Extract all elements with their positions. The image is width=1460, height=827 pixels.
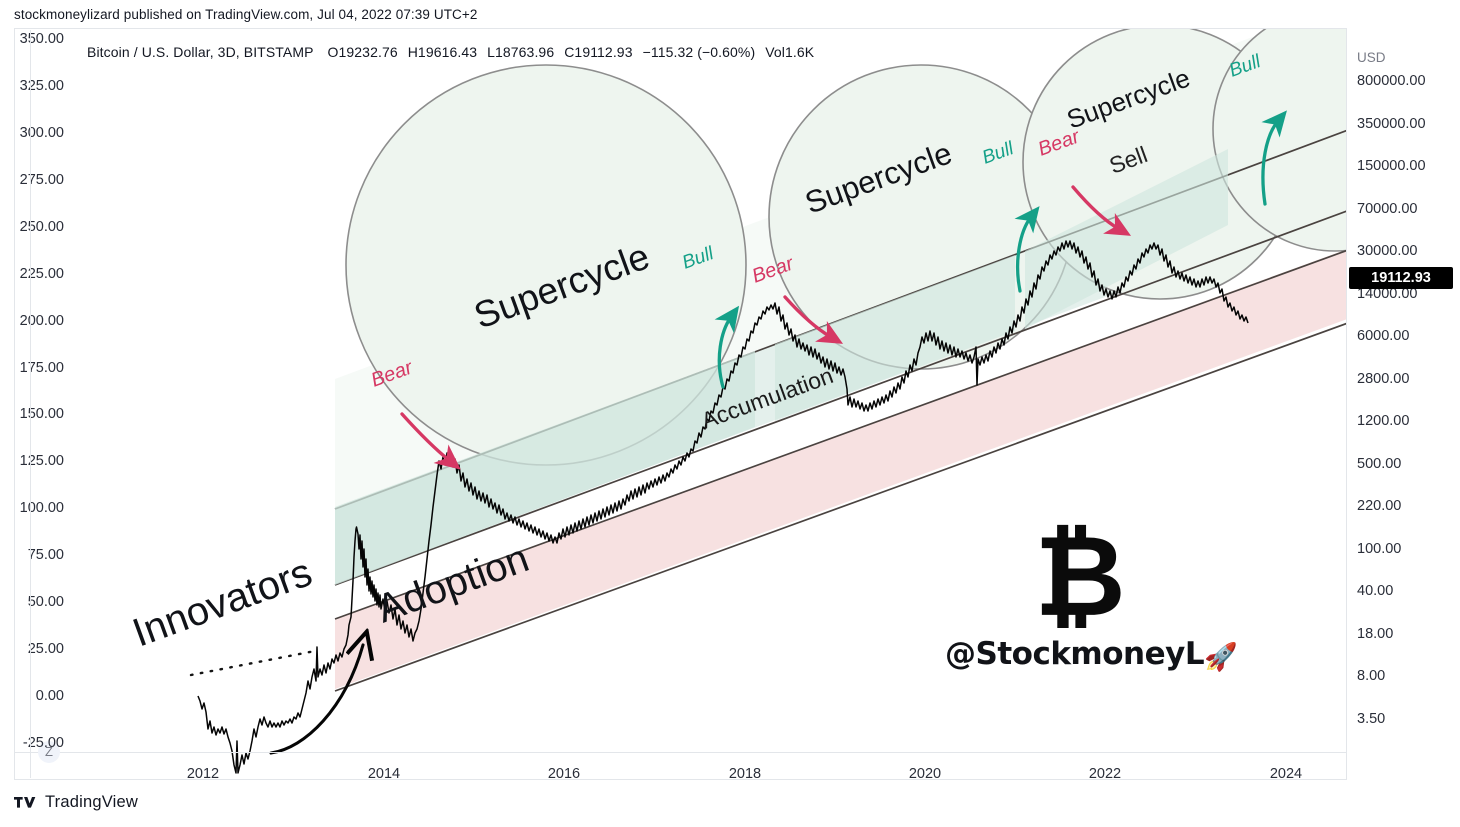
left-axis-tick: 100.00 — [20, 500, 64, 516]
ticker-change: −115.32 (−0.60%) — [643, 44, 756, 60]
right-axis-tick: 500.00 — [1357, 456, 1401, 472]
left-axis-tick: 200.00 — [20, 313, 64, 329]
time-axis-tick: 2022 — [1089, 766, 1121, 782]
left-axis-tick: 325.00 — [20, 78, 64, 94]
left-axis-tick: 225.00 — [20, 266, 64, 282]
chart-plot-area[interactable]: Supercycle Supercycle Supercycle Bear Be… — [15, 29, 1447, 781]
publisher-byline: stockmoneylizard published on TradingVie… — [14, 7, 478, 22]
left-axis-tick: 125.00 — [20, 453, 64, 469]
left-axis-tick: 175.00 — [20, 360, 64, 376]
left-axis-tick: 250.00 — [20, 219, 64, 235]
ticker-volume: Vol1.6K — [765, 44, 814, 60]
time-axis-tick: 2012 — [187, 766, 219, 782]
ticker-symbol: Bitcoin / U.S. Dollar, 3D, BITSTAMP — [87, 44, 314, 60]
left-axis-tick: 300.00 — [20, 125, 64, 141]
right-axis-tick: 18.00 — [1357, 626, 1393, 642]
current-price-tag[interactable]: 19112.93 — [1349, 267, 1453, 289]
right-axis-tick: 30000.00 — [1357, 243, 1417, 259]
right-price-axis[interactable]: USD 800000.00350000.00150000.0070000.003… — [1346, 28, 1460, 780]
right-axis-tick: 350000.00 — [1357, 116, 1426, 132]
right-axis-currency-label: USD — [1357, 50, 1386, 65]
right-axis-tick: 40.00 — [1357, 583, 1393, 599]
left-axis-tick: 350.00 — [20, 31, 64, 47]
innovators-dotted-underline — [191, 651, 315, 675]
right-axis-tick: 220.00 — [1357, 498, 1401, 514]
time-axis-tick: 2016 — [548, 766, 580, 782]
left-axis-tick: 75.00 — [28, 547, 64, 563]
chart-canvas: Supercycle Supercycle Supercycle Bear Be… — [15, 29, 1447, 781]
left-axis-tick: 150.00 — [20, 406, 64, 422]
right-axis-tick: 2800.00 — [1357, 371, 1409, 387]
left-axis-tick: 25.00 — [28, 641, 64, 657]
right-axis-tick: 100.00 — [1357, 541, 1401, 557]
time-axis-tick: 2014 — [368, 766, 400, 782]
ticker-open: O19232.76 — [328, 44, 398, 60]
ticker-low: L18763.96 — [487, 44, 554, 60]
time-axis-tick: 2018 — [729, 766, 761, 782]
right-axis-tick: 8.00 — [1357, 668, 1385, 684]
ticker-high: H19616.43 — [408, 44, 477, 60]
left-axis-tick: 0.00 — [36, 688, 64, 704]
left-price-axis[interactable]: 350.00325.00300.00275.00250.00225.00200.… — [0, 28, 72, 780]
left-axis-tick: 275.00 — [20, 172, 64, 188]
chart-frame: Supercycle Supercycle Supercycle Bear Be… — [14, 28, 1446, 780]
time-axis-tick: 2024 — [1270, 766, 1302, 782]
right-axis-tick: 70000.00 — [1357, 201, 1417, 217]
time-axis-tick: 2020 — [909, 766, 941, 782]
right-axis-tick: 150000.00 — [1357, 158, 1426, 174]
right-axis-tick: 6000.00 — [1357, 328, 1409, 344]
left-axis-rule — [30, 30, 31, 778]
time-axis[interactable]: 2012201420162018202020222024 — [14, 752, 1446, 796]
left-axis-tick: 50.00 — [28, 594, 64, 610]
ticker-close: C19112.93 — [564, 44, 632, 60]
ticker-legend[interactable]: Bitcoin / U.S. Dollar, 3D, BITSTAMP O192… — [87, 44, 814, 60]
tradingview-logo-icon — [14, 795, 38, 811]
annotation-innovators: Innovators — [127, 550, 318, 655]
right-axis-tick: 3.50 — [1357, 711, 1385, 727]
right-axis-tick: 1200.00 — [1357, 413, 1409, 429]
right-axis-tick: 800000.00 — [1357, 73, 1426, 89]
